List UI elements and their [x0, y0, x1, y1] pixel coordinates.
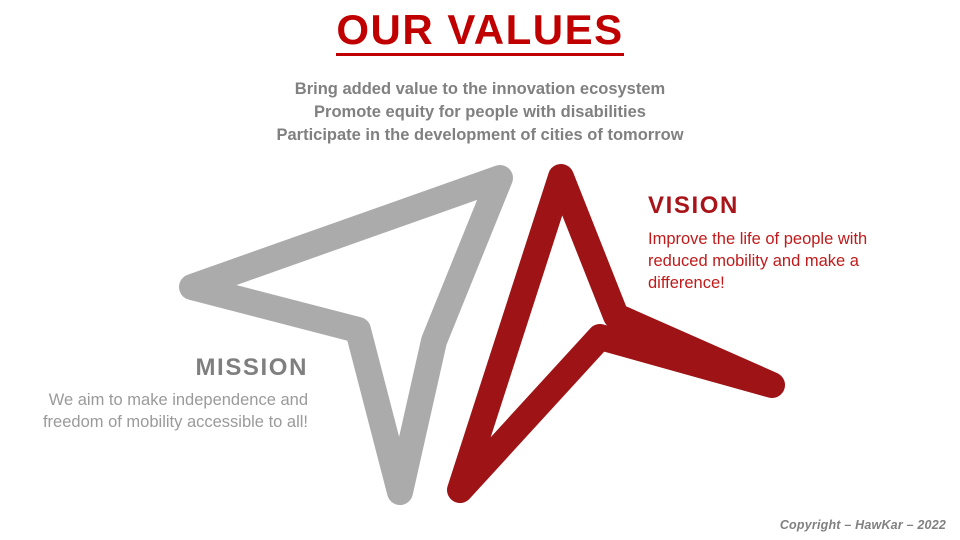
mission-block: MISSION We aim to make independence and …	[20, 355, 308, 434]
values-subtitle-line-1: Bring added value to the innovation ecos…	[0, 78, 960, 101]
values-subtitle-list: Bring added value to the innovation ecos…	[0, 78, 960, 146]
values-subtitle-line-3: Participate in the development of cities…	[0, 124, 960, 147]
slide-canvas: OUR VALUES Bring added value to the inno…	[0, 0, 960, 540]
mission-body-text: We aim to make independence and freedom …	[20, 390, 308, 434]
mission-heading: MISSION	[20, 355, 308, 381]
values-subtitle-line-2: Promote equity for people with disabilit…	[0, 101, 960, 124]
gray-navigation-arrow-icon	[192, 178, 500, 492]
page-title: OUR VALUES	[336, 8, 623, 56]
copyright-notice: Copyright – HawKar – 2022	[780, 518, 946, 532]
title-block: OUR VALUES	[0, 8, 960, 56]
vision-heading: VISION	[648, 193, 928, 219]
vision-body-text: Improve the life of people with reduced …	[648, 229, 928, 295]
vision-block: VISION Improve the life of people with r…	[648, 193, 928, 295]
